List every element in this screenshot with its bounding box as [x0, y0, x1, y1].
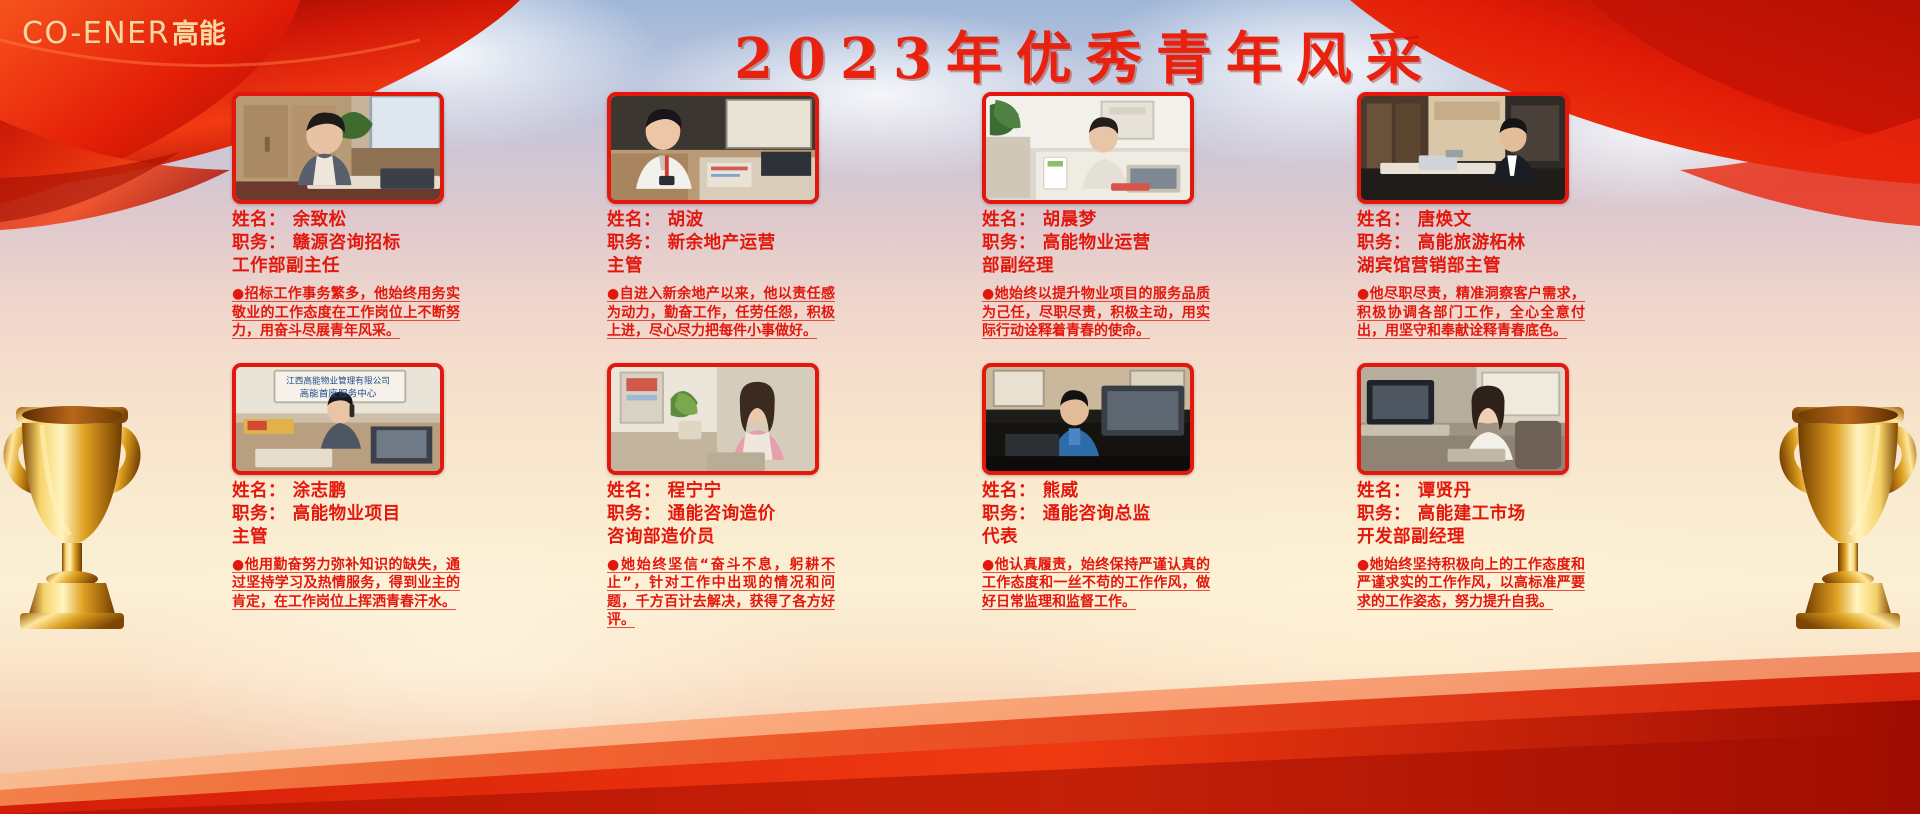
profile-role-line-1: 职务： 高能建工市场 [1357, 503, 1657, 526]
profile-description: ●她始终以提升物业项目的服务品质为己任，尽职尽责，积极主动，用实际行动诠释着青春… [982, 285, 1210, 341]
page-title-text: 2023年优秀青年风采 [484, 14, 1436, 95]
profile-description: ●他用勤奋努力弥补知识的缺失，通过坚持学习及热情服务，得到业主的肯定，在工作岗位… [232, 556, 460, 612]
profile-name: 姓名： 唐焕文 [1357, 209, 1657, 232]
profile-photo [1357, 92, 1569, 204]
profile-card: 姓名： 余致松 职务： 赣源咨询招标 工作部副主任 ●招标工作事务繁多，他始终用… [232, 92, 532, 341]
profile-card: 姓名： 熊威 职务： 通能咨询总监 代表 ●他认真履责，始终保持严谨认真的工作态… [982, 363, 1282, 630]
bottom-wave-decoration [0, 614, 1920, 814]
trophy-left-icon [0, 355, 190, 660]
page-title: 2023年优秀青年风采 [0, 14, 1920, 95]
profile-name: 姓名： 程宁宁 [607, 480, 907, 503]
profile-photo [982, 92, 1194, 204]
profile-description: ●他认真履责，始终保持严谨认真的工作态度和一丝不苟的工作作风，做好日常监理和监督… [982, 556, 1210, 612]
photo-signage-line-1: 江西高能物业管理有限公司 [286, 375, 390, 386]
profile-role-line-2: 湖宾馆营销部主管 [1357, 255, 1657, 278]
brand-logo: CO-ENER 高能 [22, 12, 226, 51]
profile-role-line-1: 职务： 高能物业运营 [982, 232, 1282, 255]
profile-card: 姓名： 胡晨梦 职务： 高能物业运营 部副经理 ●她始终以提升物业项目的服务品质… [982, 92, 1282, 341]
photo-signage-line-2: 高能首座服务中心 [300, 387, 377, 399]
profile-role-line-1: 职务： 高能旅游柘林 [1357, 232, 1657, 255]
profile-card: 姓名： 唐焕文 职务： 高能旅游柘林 湖宾馆营销部主管 ●他尽职尽责，精准洞察客… [1357, 92, 1657, 341]
profile-name: 姓名： 涂志鹏 [232, 480, 532, 503]
profile-photo [607, 92, 819, 204]
profile-role-line-2: 主管 [607, 255, 907, 278]
profile-description: ●她始终坚持积极向上的工作态度和严谨求实的工作作风，以高标准严要求的工作姿态，努… [1357, 556, 1585, 612]
profile-description: ●招标工作事务繁多，他始终用务实敬业的工作态度在工作岗位上不断努力，用奋斗尽展青… [232, 285, 460, 341]
profile-name: 姓名： 胡晨梦 [982, 209, 1282, 232]
profile-description: ●她始终坚信“奋斗不息，躬耕不止”，针对工作中出现的情况和问题，千方百计去解决，… [607, 556, 835, 630]
trophy-right-icon [1730, 355, 1920, 660]
profile-photo: 江西高能物业管理有限公司 高能首座服务中心 [232, 363, 444, 475]
profile-role-line-2: 部副经理 [982, 255, 1282, 278]
profile-name: 姓名： 熊威 [982, 480, 1282, 503]
profile-card: 姓名： 胡波 职务： 新余地产运营 主管 ●自进入新余地产以来，他以责任感为动力… [607, 92, 907, 341]
profile-role-line-1: 职务： 通能咨询总监 [982, 503, 1282, 526]
profile-description: ●他尽职尽责，精准洞察客户需求，积极协调各部门工作，全心全意付出，用坚守和奉献诠… [1357, 285, 1585, 341]
profile-description: ●自进入新余地产以来，他以责任感为动力，勤奋工作，任劳任怨，积极上进，尽心尽力把… [607, 285, 835, 341]
profile-card: 江西高能物业管理有限公司 高能首座服务中心 姓名： 涂志鹏 职务： 高能物业项目… [232, 363, 532, 630]
profile-role-line-2: 主管 [232, 526, 532, 549]
profile-role-line-1: 职务： 通能咨询造价 [607, 503, 907, 526]
profile-name: 姓名： 胡波 [607, 209, 907, 232]
profile-name: 姓名： 余致松 [232, 209, 532, 232]
profile-role-line-2: 咨询部造价员 [607, 526, 907, 549]
logo-mark-text: CO-ENER [22, 16, 170, 51]
profile-role-line-2: 代表 [982, 526, 1282, 549]
profile-role-line-1: 职务： 新余地产运营 [607, 232, 907, 255]
poster-canvas: CO-ENER 高能 2023年优秀青年风采 [0, 0, 1920, 814]
profile-card: 姓名： 谭贤丹 职务： 高能建工市场 开发部副经理 ●她始终坚持积极向上的工作态… [1357, 363, 1657, 630]
profile-card-grid: 姓名： 余致松 职务： 赣源咨询招标 工作部副主任 ●招标工作事务繁多，他始终用… [232, 92, 1692, 630]
profile-card: 姓名： 程宁宁 职务： 通能咨询造价 咨询部造价员 ●她始终坚信“奋斗不息，躬耕… [607, 363, 907, 630]
profile-role-line-2: 开发部副经理 [1357, 526, 1657, 549]
profile-photo [982, 363, 1194, 475]
profile-role-line-2: 工作部副主任 [232, 255, 532, 278]
logo-chinese-text: 高能 [172, 12, 226, 51]
profile-photo [1357, 363, 1569, 475]
profile-photo [607, 363, 819, 475]
profile-name: 姓名： 谭贤丹 [1357, 480, 1657, 503]
profile-role-line-1: 职务： 高能物业项目 [232, 503, 532, 526]
profile-role-line-1: 职务： 赣源咨询招标 [232, 232, 532, 255]
profile-photo [232, 92, 444, 204]
